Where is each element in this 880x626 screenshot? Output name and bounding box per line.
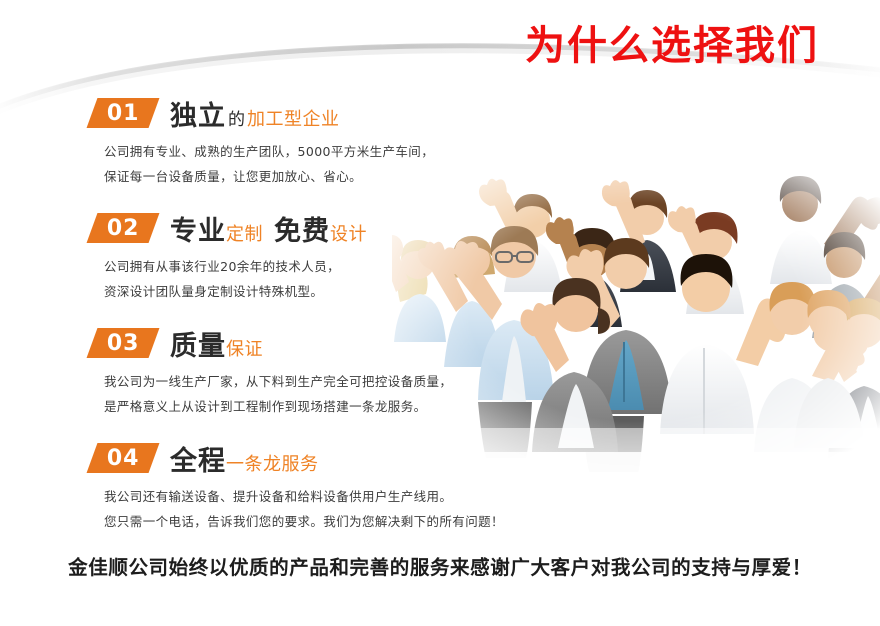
feature-number-badge: 03	[87, 328, 160, 358]
promo-banner: 为什么选择我们	[0, 0, 880, 626]
feature-title: 质量 保证	[170, 324, 263, 363]
feature-title: 全程 一条龙服务	[170, 439, 319, 478]
footer-tagline: 金佳顺公司始终以优质的产品和完善的服务来感谢广大客户对我公司的支持与厚爱！	[0, 551, 880, 580]
feature-number: 03	[107, 331, 140, 356]
feature-heading: 04 全程 一条龙服务	[92, 441, 492, 475]
feature-title-accent: 保证	[226, 335, 263, 361]
feature-number: 04	[107, 446, 140, 471]
feature-body-line: 我公司还有输送设备、提升设备和给料设备供用户生产线用。	[104, 484, 492, 509]
feature-heading: 01 独立 的 加工型企业	[92, 96, 492, 130]
feature-body-line: 公司拥有从事该行业20余年的技术人员，	[104, 254, 492, 279]
feature-heading: 03 质量 保证	[92, 326, 492, 360]
feature-number: 02	[107, 216, 140, 241]
team-thumbs-up-photo	[392, 152, 880, 472]
feature-heading: 02 专业 定制 免费 设计	[92, 211, 492, 245]
feature-block-01: 01 独立 的 加工型企业 公司拥有专业、成熟的生产团队，5000平方米生产车间…	[92, 96, 492, 189]
feature-title-main: 专业	[170, 209, 226, 248]
feature-number-badge: 01	[87, 98, 160, 128]
feature-block-02: 02 专业 定制 免费 设计 公司拥有从事该行业20余年的技术人员， 资深设计团…	[92, 211, 492, 304]
feature-title-main: 质量	[170, 324, 226, 363]
feature-body-line: 您只需一个电话，告诉我们您的要求。我们为您解决剩下的所有问题！	[104, 509, 492, 534]
feature-body-line: 保证每一台设备质量，让您更加放心、省心。	[104, 164, 492, 189]
feature-body: 我公司还有输送设备、提升设备和给料设备供用户生产线用。 您只需一个电话，告诉我们…	[104, 484, 492, 534]
feature-title-accent-2: 设计	[330, 220, 367, 246]
feature-title-accent: 一条龙服务	[226, 450, 319, 476]
page-title: 为什么选择我们	[525, 24, 819, 68]
feature-body-line: 我公司为一线生产厂家，从下料到生产完全可把控设备质量，	[104, 369, 492, 394]
feature-body-line: 是严格意义上从设计到工程制作到现场搭建一条龙服务。	[104, 394, 492, 419]
feature-body: 公司拥有专业、成熟的生产团队，5000平方米生产车间， 保证每一台设备质量，让您…	[104, 139, 492, 189]
feature-body-line: 公司拥有专业、成熟的生产团队，5000平方米生产车间，	[104, 139, 492, 164]
feature-title: 专业 定制 免费 设计	[170, 209, 367, 248]
feature-body: 公司拥有从事该行业20余年的技术人员， 资深设计团队量身定制设计特殊机型。	[104, 254, 492, 304]
feature-number-badge: 02	[87, 213, 160, 243]
feature-number-badge: 04	[87, 443, 160, 473]
feature-body-line: 资深设计团队量身定制设计特殊机型。	[104, 279, 492, 304]
feature-title-main-2: 免费	[274, 209, 330, 248]
feature-title: 独立 的 加工型企业	[170, 94, 340, 133]
feature-block-04: 04 全程 一条龙服务 我公司还有输送设备、提升设备和给料设备供用户生产线用。 …	[92, 441, 492, 534]
feature-title-main: 独立	[170, 94, 226, 133]
feature-block-03: 03 质量 保证 我公司为一线生产厂家，从下料到生产完全可把控设备质量， 是严格…	[92, 326, 492, 419]
feature-title-accent: 加工型企业	[247, 105, 340, 131]
feature-title-accent: 定制	[226, 220, 263, 246]
feature-body: 我公司为一线生产厂家，从下料到生产完全可把控设备质量， 是严格意义上从设计到工程…	[104, 369, 492, 419]
feature-title-main: 全程	[170, 439, 226, 478]
feature-number: 01	[107, 101, 140, 126]
feature-title-connector: 的	[228, 105, 245, 130]
